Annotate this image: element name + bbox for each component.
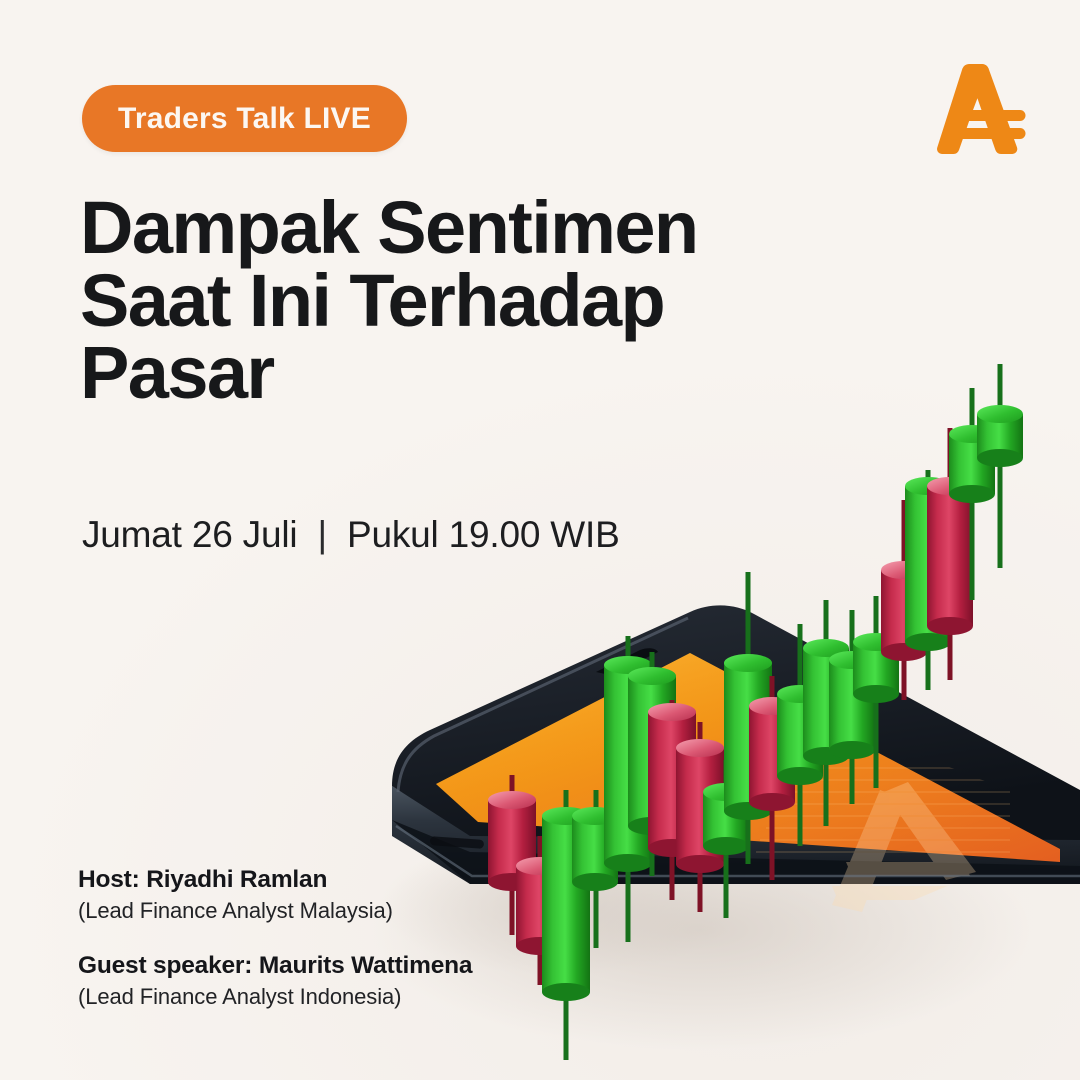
host-name: Host: Riyadhi Ramlan — [78, 866, 472, 894]
candle-bull — [604, 636, 652, 942]
page-title-line-3: Pasar — [80, 337, 820, 410]
candle-bull — [949, 388, 995, 600]
candle-bear — [881, 500, 927, 700]
live-badge[interactable]: Traders Talk LIVE — [82, 85, 407, 152]
candle-bull — [853, 596, 899, 788]
candle-bull — [628, 652, 676, 876]
speaker-credits: Host: Riyadhi Ramlan (Lead Finance Analy… — [78, 866, 472, 1038]
candle-bull — [703, 760, 749, 918]
candle-bull — [905, 470, 951, 690]
live-badge-label: Traders Talk LIVE — [118, 102, 371, 136]
page-title-line-1: Dampak Sentimen — [80, 192, 820, 265]
candle-bull — [572, 790, 618, 948]
smartphone-3d — [392, 605, 1080, 912]
host-credit: Host: Riyadhi Ramlan (Lead Finance Analy… — [78, 866, 472, 924]
host-role: (Lead Finance Analyst Malaysia) — [78, 898, 472, 924]
guest-name: Guest speaker: Maurits Wattimena — [78, 952, 472, 980]
candlestick-series — [488, 364, 1023, 1060]
candle-bear — [488, 775, 536, 935]
candle-bull — [829, 610, 875, 804]
schedule-separator: | — [317, 514, 326, 556]
event-date: Jumat 26 Juli — [82, 514, 297, 555]
guest-role: (Lead Finance Analyst Indonesia) — [78, 984, 472, 1010]
page-title-line-2: Saat Ini Terhadap — [80, 265, 820, 338]
promo-poster: Traders Talk LIVE Dampak Sentimen Saat I… — [0, 0, 1080, 1080]
ascendex-a-logo-icon — [925, 58, 1037, 158]
candle-bear — [749, 676, 795, 880]
candle-bull — [977, 364, 1023, 568]
event-schedule: Jumat 26 Juli | Pukul 19.00 WIB — [82, 514, 620, 556]
event-time: Pukul 19.00 WIB — [347, 514, 620, 555]
candle-bear — [927, 428, 973, 680]
candle-bear — [648, 700, 696, 900]
candle-bull — [777, 624, 823, 846]
candle-bull — [803, 600, 849, 826]
candle-bear — [676, 722, 724, 912]
guest-credit: Guest speaker: Maurits Wattimena (Lead F… — [78, 952, 472, 1010]
candle-bull — [542, 790, 590, 1060]
candle-bull — [724, 572, 772, 864]
page-title: Dampak Sentimen Saat Ini Terhadap Pasar — [80, 192, 820, 410]
candle-bear — [516, 836, 564, 985]
